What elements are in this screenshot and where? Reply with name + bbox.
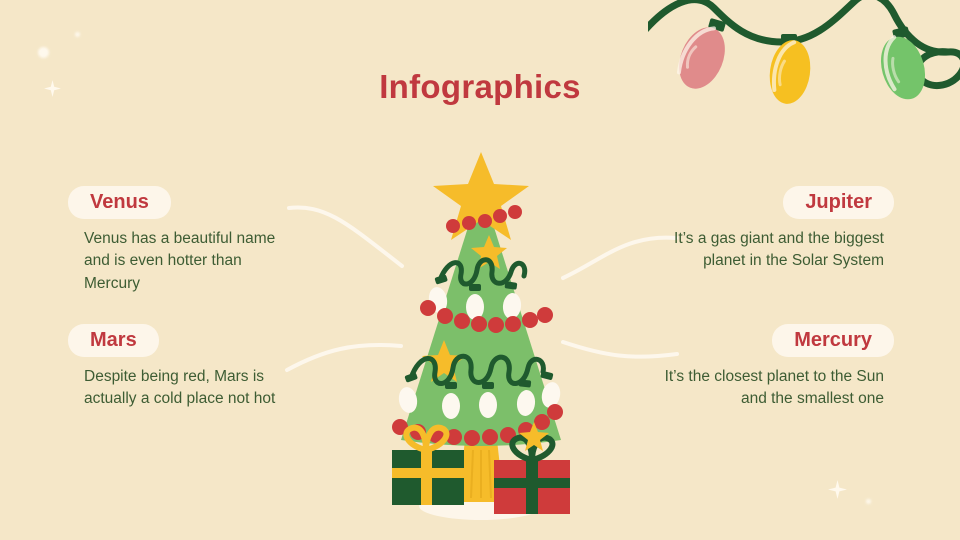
string-lights-garland [648,0,960,114]
block-jupiter: Jupiter It’s a gas giant and the biggest… [662,186,894,273]
block-mars: Mars Despite being red, Mars is actually… [68,324,298,411]
block-label-mars: Mars [68,324,159,357]
block-text-mars: Despite being red, Mars is actually a co… [68,366,298,411]
bulb-green [874,26,932,104]
slide-canvas: Infographics [0,0,960,540]
sparkle-dot-icon [38,47,49,58]
block-label-jupiter: Jupiter [783,186,894,219]
bulb-red [671,18,734,96]
sparkle-dot-icon [866,499,871,504]
block-mercury: Mercury It’s the closest planet to the S… [662,324,894,411]
sparkle-dot-icon [75,32,80,37]
christmas-tree-illustration [378,150,584,525]
block-label-mercury: Mercury [772,324,894,357]
block-text-venus: Venus has a beautiful name and is even h… [68,228,298,295]
block-venus: Venus Venus has a beautiful name and is … [68,186,298,295]
block-label-venus: Venus [68,186,171,219]
block-text-jupiter: It’s a gas giant and the biggest planet … [662,228,894,273]
block-text-mercury: It’s the closest planet to the Sun and t… [662,366,894,411]
sparkle-star-icon [828,480,847,499]
